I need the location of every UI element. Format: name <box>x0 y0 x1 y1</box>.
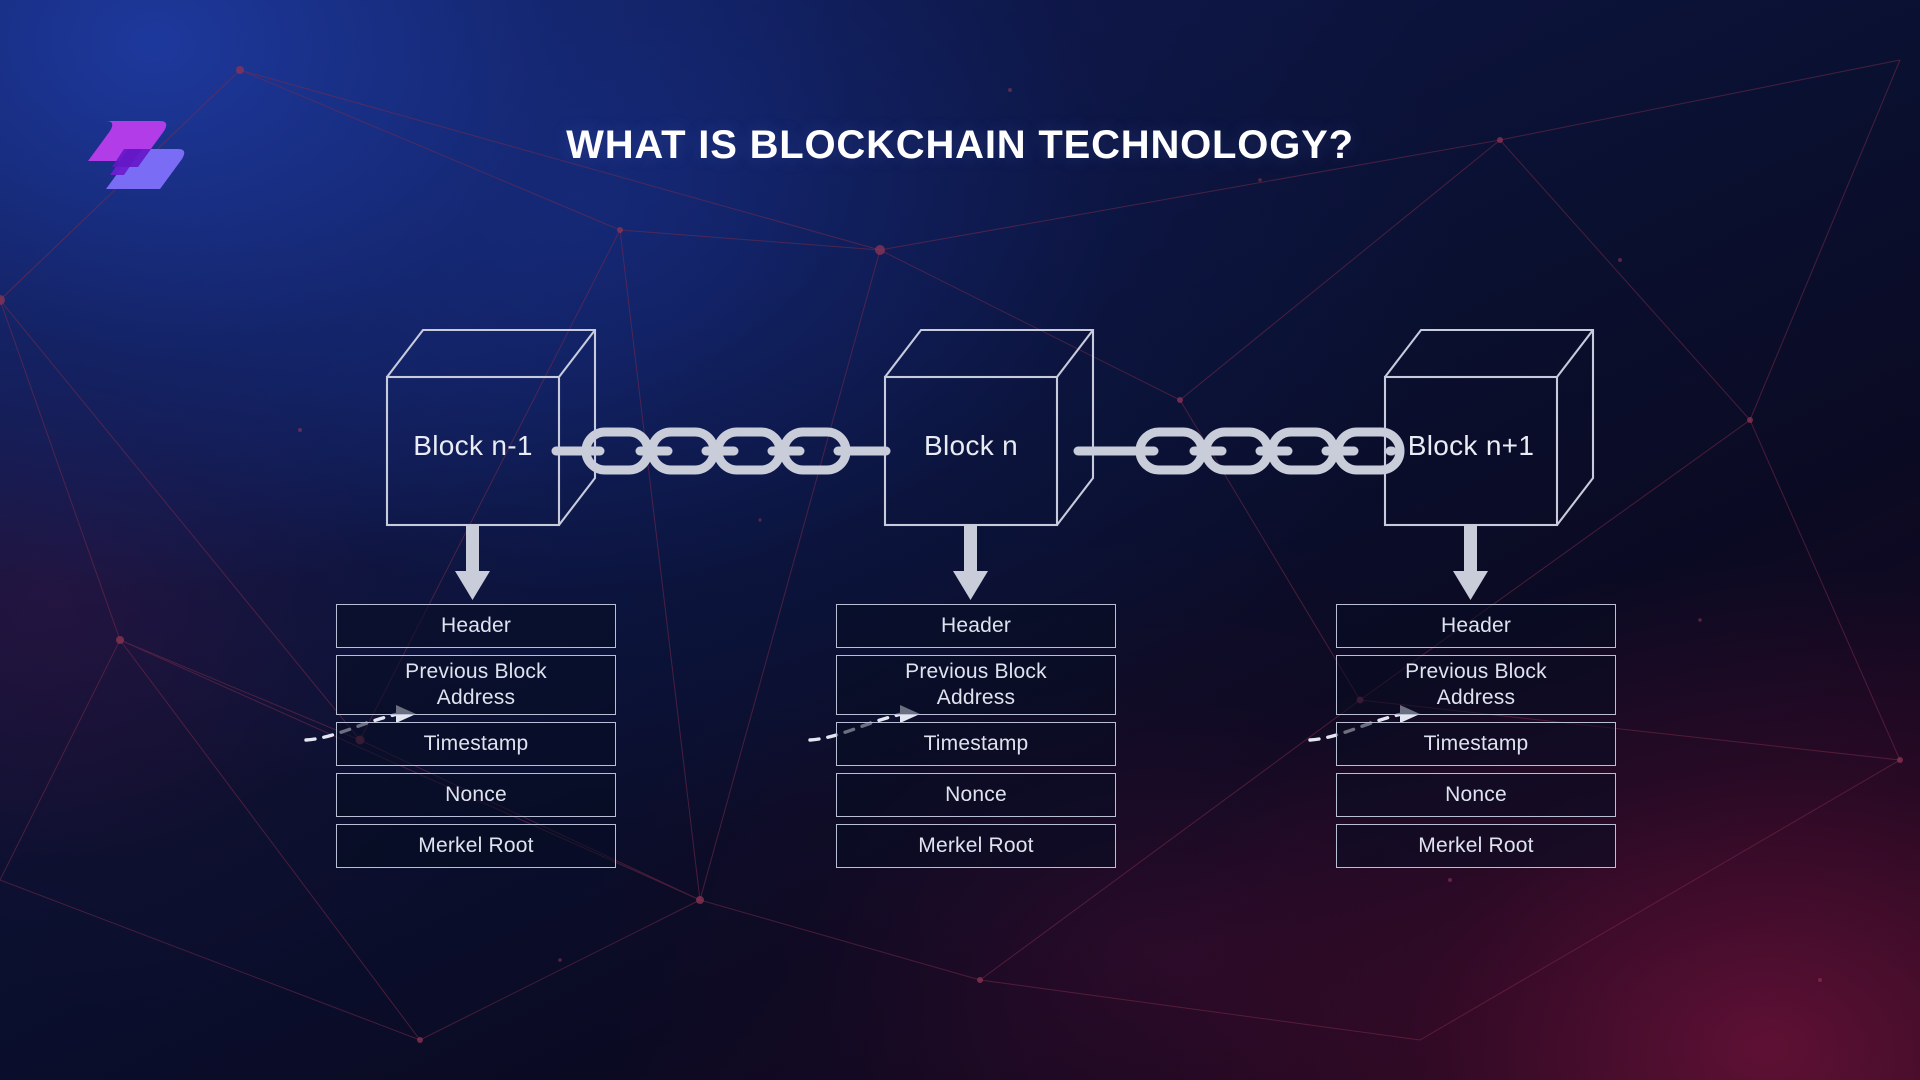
field-line-2: Address <box>1437 685 1515 711</box>
field-stack-block-n-minus-1: Header Previous Block Address Timestamp … <box>336 604 616 875</box>
field-merkel-root[interactable]: Merkel Root <box>1336 824 1616 868</box>
slide-canvas: WHAT IS BLOCKCHAIN TECHNOLOGY? <box>0 0 1920 1080</box>
field-stack-block-n: Header Previous Block Address Timestamp … <box>836 604 1116 875</box>
blockchain-diagram-graphic <box>0 0 1920 1080</box>
field-nonce[interactable]: Nonce <box>336 773 616 817</box>
cube-label-block-n-minus-1: Block n-1 <box>398 430 548 462</box>
field-timestamp[interactable]: Timestamp <box>1336 722 1616 766</box>
chain-connector-1 <box>556 432 886 470</box>
field-merkel-root[interactable]: Merkel Root <box>336 824 616 868</box>
cube-block-n <box>885 330 1093 525</box>
cube-label-block-n-plus-1: Block n+1 <box>1396 430 1546 462</box>
field-previous-block-address[interactable]: Previous Block Address <box>336 655 616 715</box>
field-nonce[interactable]: Nonce <box>1336 773 1616 817</box>
field-merkel-root[interactable]: Merkel Root <box>836 824 1116 868</box>
field-line-2: Address <box>437 685 515 711</box>
down-arrow-1 <box>455 525 490 600</box>
chain-connector-2 <box>1078 432 1400 470</box>
field-line-1: Previous Block <box>405 659 547 685</box>
field-line-2: Address <box>937 685 1015 711</box>
down-arrow-3 <box>1453 525 1488 600</box>
cube-block-n-minus-1 <box>387 330 595 525</box>
field-timestamp[interactable]: Timestamp <box>336 722 616 766</box>
field-line-1: Previous Block <box>905 659 1047 685</box>
field-header[interactable]: Header <box>1336 604 1616 648</box>
cube-block-n-plus-1 <box>1385 330 1593 525</box>
field-previous-block-address[interactable]: Previous Block Address <box>836 655 1116 715</box>
field-stack-block-n-plus-1: Header Previous Block Address Timestamp … <box>1336 604 1616 875</box>
down-arrow-2 <box>953 525 988 600</box>
field-nonce[interactable]: Nonce <box>836 773 1116 817</box>
field-header[interactable]: Header <box>336 604 616 648</box>
field-line-1: Previous Block <box>1405 659 1547 685</box>
field-previous-block-address[interactable]: Previous Block Address <box>1336 655 1616 715</box>
cube-label-block-n: Block n <box>896 430 1046 462</box>
cube-to-header-arrows <box>455 525 1488 600</box>
field-header[interactable]: Header <box>836 604 1116 648</box>
field-timestamp[interactable]: Timestamp <box>836 722 1116 766</box>
